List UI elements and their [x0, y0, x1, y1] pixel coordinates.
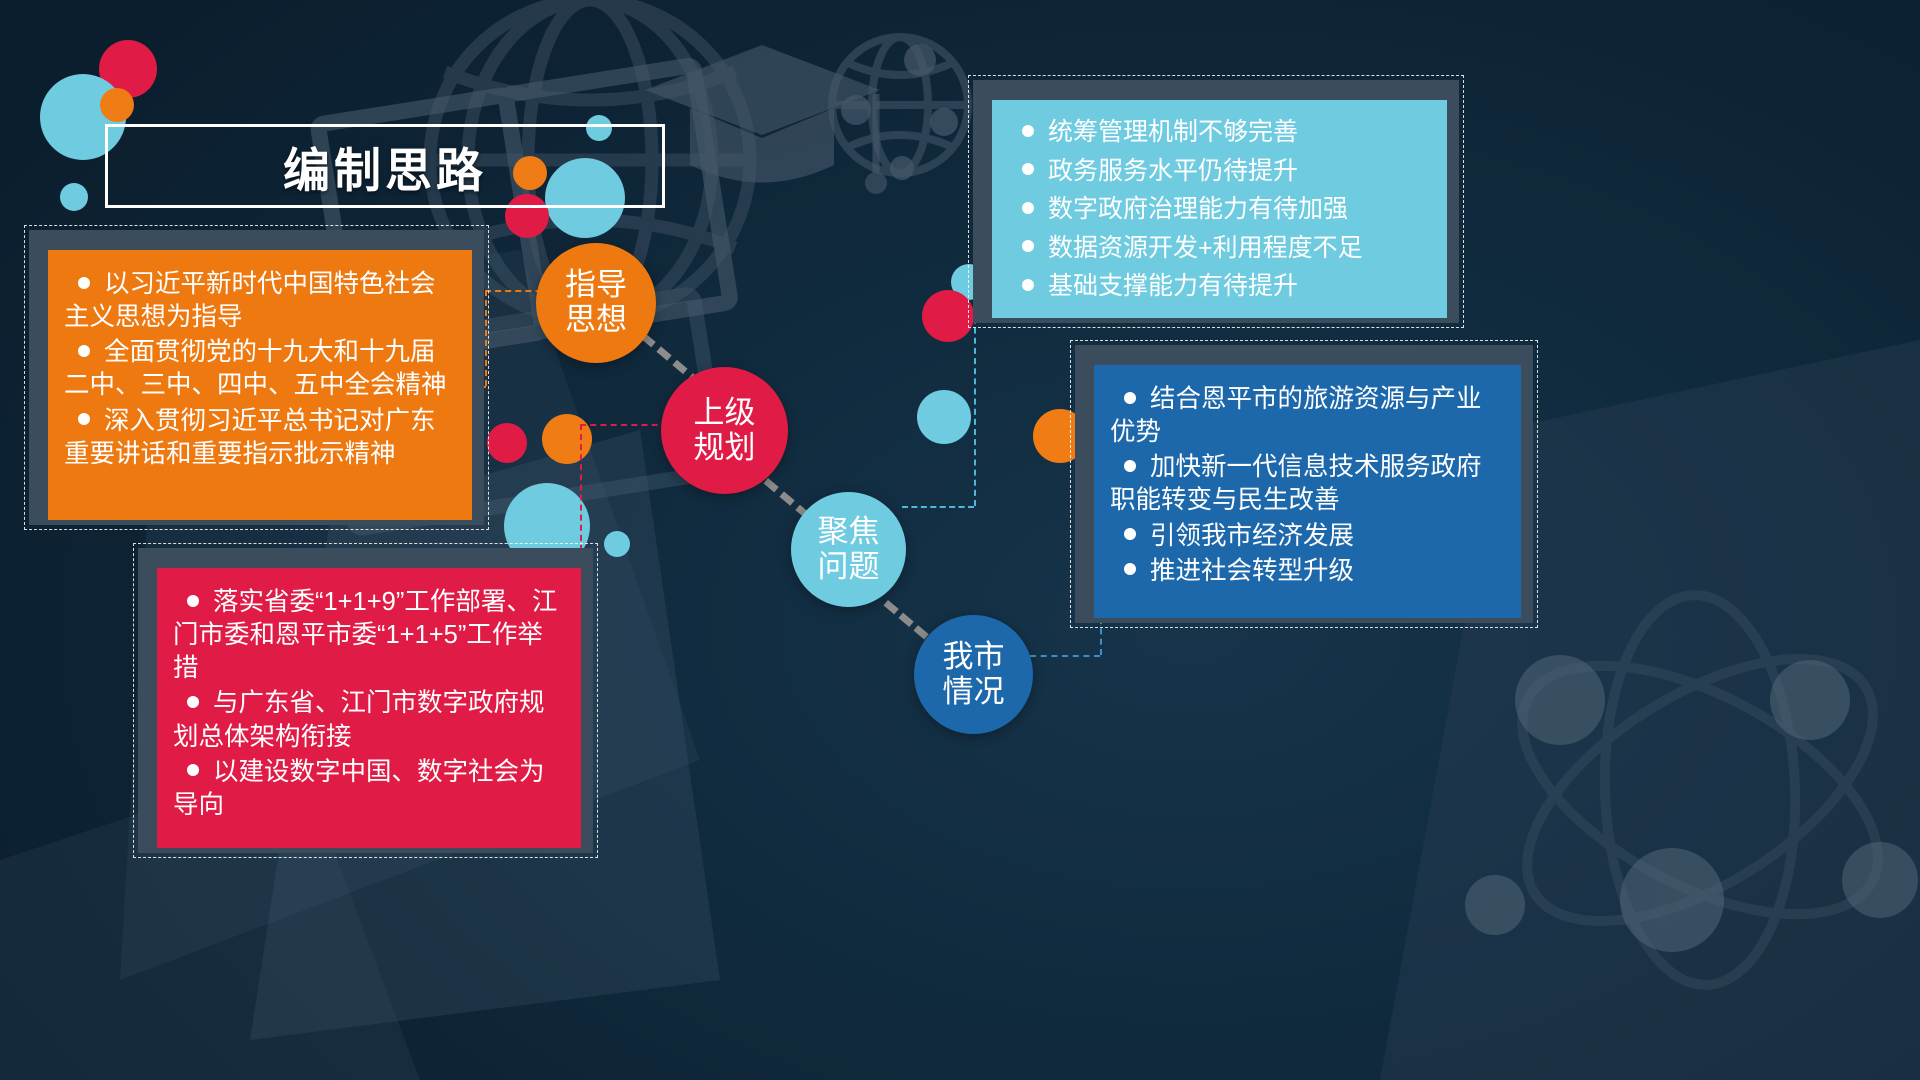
- list-item-label: 与广东省、江门市数字政府规划总体架构衔接: [173, 689, 545, 750]
- bullet-icon: [78, 413, 90, 425]
- list-item: 深入贯彻习近平总书记对广东重要讲话和重要指示批示精神: [64, 405, 456, 471]
- list-item-label: 推进社会转型升级: [1150, 557, 1354, 585]
- panel-content: 以习近平新时代中国特色社会主义思想为指导 全面贯彻党的十九大和十九届二中、三中、…: [48, 250, 472, 520]
- list-item: 基础支撑能力有待提升: [1008, 268, 1431, 305]
- list-item: 数据资源开发+利用程度不足: [1008, 230, 1431, 267]
- list-item: 数字政府治理能力有待加强: [1008, 191, 1431, 228]
- panel-content: 结合恩平市的旅游资源与产业优势 加快新一代信息技术服务政府职能转变与民生改善 引…: [1094, 365, 1521, 618]
- list-item: 与广东省、江门市数字政府规划总体架构衔接: [173, 687, 565, 753]
- circle-label-line1: 指导: [565, 268, 627, 303]
- bullet-icon: [187, 696, 199, 708]
- list-item-label: 加快新一代信息技术服务政府职能转变与民生改善: [1110, 453, 1482, 514]
- list-item: 推进社会转型升级: [1110, 555, 1505, 588]
- bullet-icon: [187, 764, 199, 776]
- circle-label-line2: 情况: [943, 675, 1005, 710]
- list-item: 以建设数字中国、数字社会为导向: [173, 756, 565, 822]
- list-item-label: 以习近平新时代中国特色社会主义思想为指导: [64, 270, 436, 331]
- list-item-label: 基础支撑能力有待提升: [1048, 272, 1298, 300]
- dot-crimson-4-icon: [922, 290, 974, 342]
- circle-label-line2: 思想: [565, 303, 627, 338]
- list-item-label: 深入贯彻习近平总书记对广东重要讲话和重要指示批示精神: [64, 407, 436, 468]
- list-item: 统筹管理机制不够完善: [1008, 114, 1431, 151]
- dot-orange-3-icon: [542, 414, 592, 464]
- page-title: 编制思路: [105, 124, 665, 208]
- panel-list: 统筹管理机制不够完善 政务服务水平仍待提升 数字政府治理能力有待加强 数据资源开…: [1008, 114, 1431, 305]
- panel-list: 以习近平新时代中国特色社会主义思想为指导 全面贯彻党的十九大和十九届二中、三中、…: [64, 268, 456, 471]
- circle-label-line2: 规划: [694, 431, 756, 466]
- list-item-label: 数字政府治理能力有待加强: [1048, 195, 1348, 223]
- circle-guiding-thought[interactable]: 指导 思想: [536, 243, 656, 363]
- list-item-label: 引领我市经济发展: [1150, 522, 1354, 550]
- circle-upper-level-plan[interactable]: 上级 规划: [661, 367, 788, 494]
- bullet-icon: [1022, 279, 1034, 291]
- circle-focus-problem[interactable]: 聚焦 问题: [791, 492, 906, 607]
- list-item-label: 政务服务水平仍待提升: [1048, 157, 1298, 185]
- circle-label-line1: 聚焦: [818, 515, 880, 550]
- circle-label-line2: 问题: [818, 550, 880, 585]
- bullet-icon: [78, 277, 90, 289]
- list-item: 政务服务水平仍待提升: [1008, 153, 1431, 190]
- dot-cyan-6-icon: [604, 531, 630, 557]
- panel-upper-level-plan[interactable]: 落实省委“1+1+9”工作部署、江门市委和恩平市委“1+1+5”工作举措 与广东…: [133, 543, 598, 858]
- slide-canvas: 编制思路 以习近平新时代中国特色社会主义思想为指导 全面贯彻党的十九大和十九届二…: [0, 0, 1920, 1080]
- bullet-icon: [187, 595, 199, 607]
- dot-cyan-2-icon: [60, 183, 88, 211]
- bullet-icon: [1124, 528, 1136, 540]
- list-item: 结合恩平市的旅游资源与产业优势: [1110, 383, 1505, 449]
- list-item-label: 以建设数字中国、数字社会为导向: [173, 758, 545, 819]
- list-item: 以习近平新时代中国特色社会主义思想为指导: [64, 268, 456, 334]
- panel-list: 结合恩平市的旅游资源与产业优势 加快新一代信息技术服务政府职能转变与民生改善 引…: [1110, 383, 1505, 588]
- circle-city-situation[interactable]: 我市 情况: [914, 615, 1033, 734]
- bullet-icon: [1124, 460, 1136, 472]
- list-item: 引领我市经济发展: [1110, 520, 1505, 553]
- list-item: 落实省委“1+1+9”工作部署、江门市委和恩平市委“1+1+5”工作举措: [173, 586, 565, 685]
- dot-crimson-3-icon: [487, 423, 527, 463]
- panel-guiding-thought[interactable]: 以习近平新时代中国特色社会主义思想为指导 全面贯彻党的十九大和十九届二中、三中、…: [24, 225, 489, 530]
- bullet-icon: [1124, 563, 1136, 575]
- panel-city-situation[interactable]: 结合恩平市的旅游资源与产业优势 加快新一代信息技术服务政府职能转变与民生改善 引…: [1070, 340, 1538, 628]
- list-item-label: 落实省委“1+1+9”工作部署、江门市委和恩平市委“1+1+5”工作举措: [173, 588, 557, 682]
- bullet-icon: [78, 345, 90, 357]
- list-item-label: 数据资源开发+利用程度不足: [1048, 234, 1363, 262]
- panel-list: 落实省委“1+1+9”工作部署、江门市委和恩平市委“1+1+5”工作举措 与广东…: [173, 586, 565, 822]
- list-item-label: 全面贯彻党的十九大和十九届二中、三中、四中、五中全会精神: [64, 338, 447, 399]
- panel-content: 统筹管理机制不够完善 政务服务水平仍待提升 数字政府治理能力有待加强 数据资源开…: [992, 100, 1447, 318]
- bullet-icon: [1022, 240, 1034, 252]
- circle-label-line1: 我市: [943, 640, 1005, 675]
- bullet-icon: [1124, 392, 1136, 404]
- connector-segment: [1030, 655, 1100, 657]
- connector-segment: [902, 506, 974, 508]
- connector-segment: [580, 424, 668, 426]
- circle-label-line1: 上级: [694, 396, 756, 431]
- list-item: 全面贯彻党的十九大和十九届二中、三中、四中、五中全会精神: [64, 336, 456, 402]
- list-item-label: 统筹管理机制不够完善: [1048, 118, 1298, 146]
- dot-cyan-7-icon: [917, 390, 971, 444]
- panel-focus-problem[interactable]: 统筹管理机制不够完善 政务服务水平仍待提升 数字政府治理能力有待加强 数据资源开…: [968, 75, 1464, 328]
- list-item: 加快新一代信息技术服务政府职能转变与民生改善: [1110, 451, 1505, 517]
- bullet-icon: [1022, 202, 1034, 214]
- dot-orange-1-icon: [100, 88, 134, 122]
- list-item-label: 结合恩平市的旅游资源与产业优势: [1110, 385, 1482, 446]
- panel-content: 落实省委“1+1+9”工作部署、江门市委和恩平市委“1+1+5”工作举措 与广东…: [157, 568, 581, 848]
- bullet-icon: [1022, 125, 1034, 137]
- bullet-icon: [1022, 163, 1034, 175]
